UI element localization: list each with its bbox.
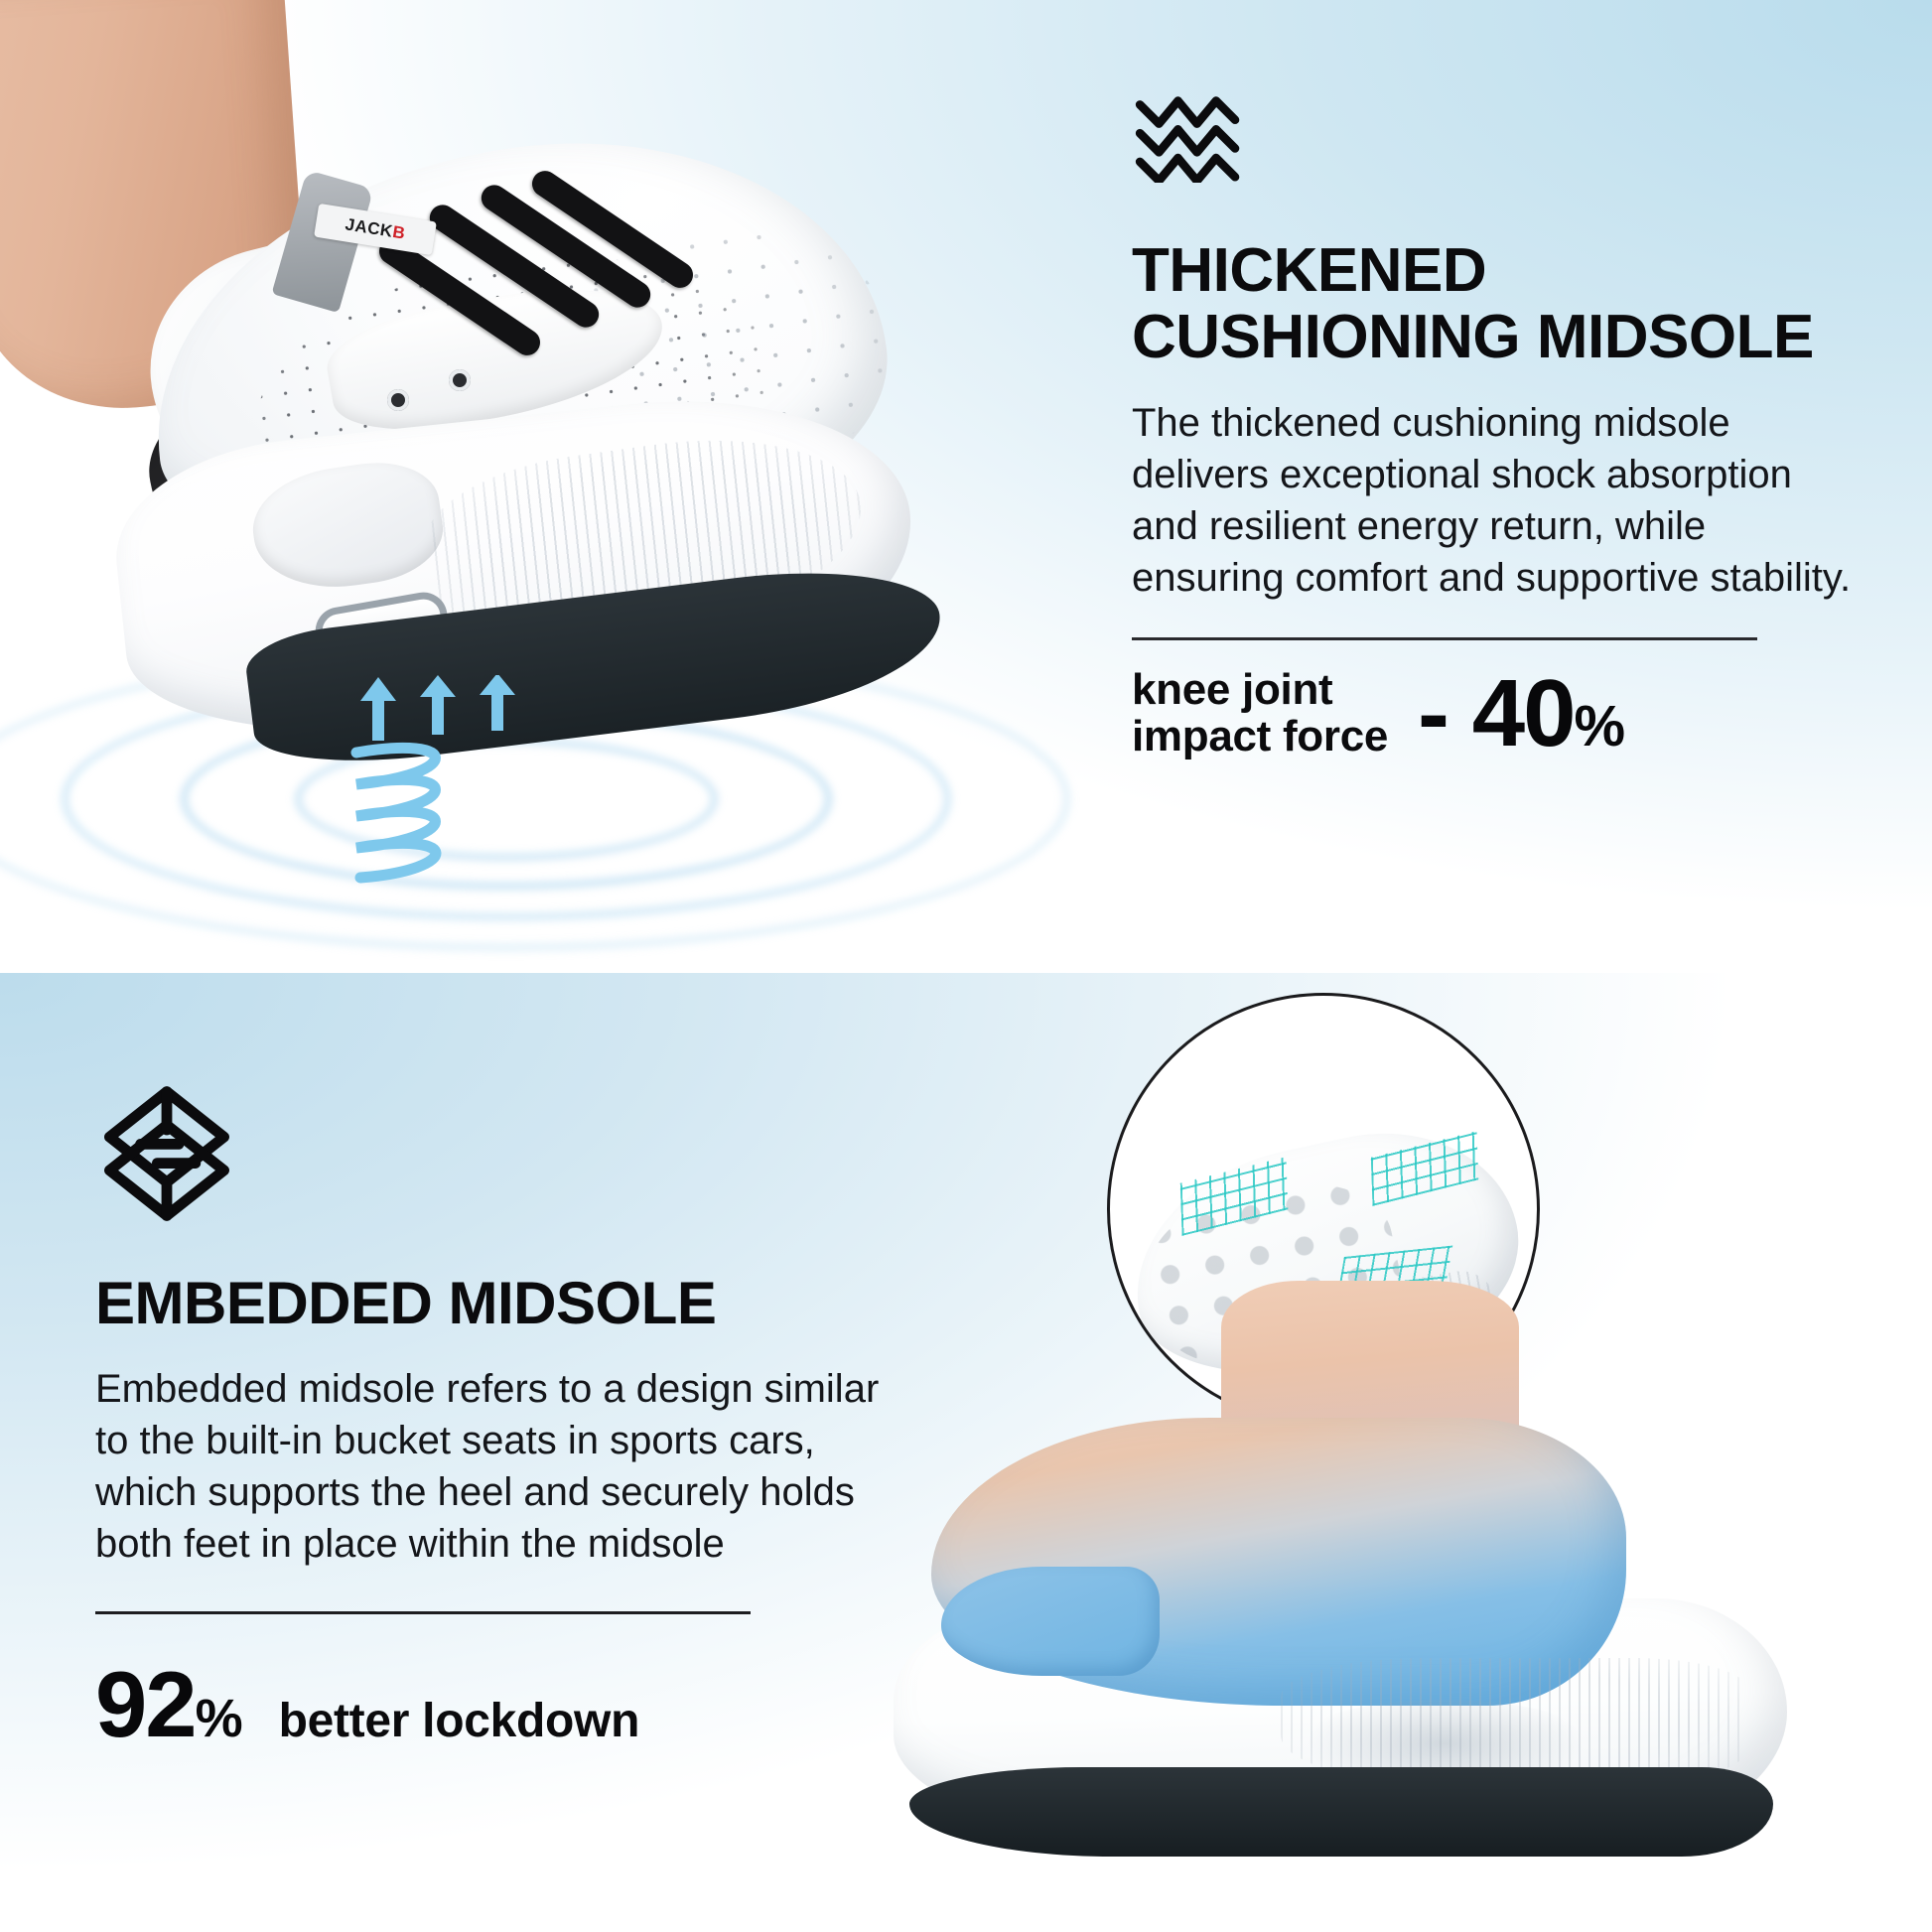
foot-in-midsole-illustration (854, 1301, 1906, 1916)
stat-knee-impact: knee joint impact force - 40% (1132, 666, 1866, 761)
page-title: THICKENED CUSHIONING MIDSOLE (1132, 238, 1866, 371)
bottom-text-column: EMBEDDED MIDSOLE Embedded midsole refers… (95, 1082, 919, 1751)
toes (941, 1567, 1160, 1676)
shoe-photo-illustration: JACKB (0, 0, 1042, 894)
stat-number: - 40 (1418, 660, 1574, 766)
section-title: EMBEDDED MIDSOLE (95, 1269, 919, 1337)
brand-label-text: JACK (344, 214, 394, 241)
stat-label-line-2: impact force (1132, 712, 1388, 760)
title-line-2: CUSHIONING MIDSOLE (1132, 303, 1814, 371)
cushioning-callout (343, 685, 601, 894)
stat-value: 92% (95, 1658, 241, 1751)
upward-arrows-icon (350, 675, 539, 745)
divider (1132, 637, 1757, 640)
description-text: Embedded midsole refers to a design simi… (95, 1363, 919, 1570)
divider (95, 1611, 751, 1614)
outsole (909, 1767, 1773, 1857)
description-text: The thickened cushioning midsole deliver… (1132, 397, 1866, 604)
top-text-column: THICKENED CUSHIONING MIDSOLE The thicken… (1132, 91, 1866, 761)
spring-coil-icon (343, 741, 591, 890)
layers-diamond-icon (95, 1082, 238, 1225)
title-line-1: THICKENED (1132, 236, 1486, 305)
stat-unit: % (1574, 694, 1624, 759)
lace-eyelet (387, 389, 409, 411)
stat-label: better lockdown (279, 1694, 640, 1748)
stat-label: knee joint impact force (1132, 667, 1388, 759)
waves-icon (1132, 91, 1247, 183)
lace-eyelet (449, 369, 471, 391)
brand-label-accent: B (391, 222, 407, 244)
stat-lockdown: 92% better lockdown (95, 1658, 919, 1751)
stat-value: - 40% (1418, 666, 1624, 761)
stat-unit: % (196, 1689, 241, 1748)
infographic-page: JACKB (0, 0, 1932, 1932)
stat-number: 92 (95, 1652, 196, 1756)
panel-embedded-midsole: EMBEDDED MIDSOLE Embedded midsole refers… (0, 973, 1932, 1932)
stat-label-line-1: knee joint (1132, 665, 1332, 714)
panel-thickened-cushioning-midsole: JACKB (0, 0, 1932, 973)
